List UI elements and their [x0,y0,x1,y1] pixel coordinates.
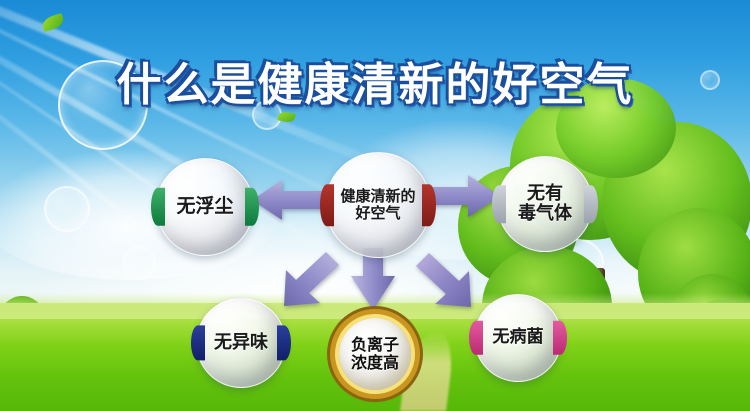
node-label-line2: 毒气体 [518,203,572,224]
bubble-icon [44,186,90,232]
node-label: 无有 毒气体 [518,184,572,224]
node-label-line1: 健康清新的 [340,187,415,205]
node-accent-left [492,185,506,223]
node-accent-left [191,325,205,360]
node-accent-right [245,188,259,226]
node-no-germs[interactable]: 无病菌 [474,294,562,382]
leaf-icon [41,13,66,32]
node-label: 健康清新的 好空气 [340,188,415,222]
node-no-odor[interactable]: 无异味 [196,298,286,388]
node-label-line1: 负离子 [351,335,399,354]
node-accent-left [320,184,334,226]
node-accent-left [469,321,483,355]
bubble-icon [122,246,156,280]
node-label-line1: 无有 [527,183,563,204]
node-label: 无浮尘 [176,196,233,217]
node-label: 负离子 浓度高 [351,336,399,372]
arrow-left-icon [252,178,324,222]
poster-canvas: 什么是健康清新的好空气 无浮尘 [0,0,750,411]
node-center-healthy-air[interactable]: 健康清新的 好空气 [325,152,431,258]
node-accent-right [584,185,598,223]
node-accent-right [553,321,567,355]
node-no-dust[interactable]: 无浮尘 [156,158,254,256]
node-accent-right [422,184,436,226]
node-accent-left [151,188,165,226]
node-accent-right [277,325,291,360]
node-no-toxic-gas[interactable]: 无有 毒气体 [497,156,593,252]
node-label: 无病菌 [493,328,544,347]
page-title: 什么是健康清新的好空气 [0,48,750,113]
node-high-anion[interactable]: 负离子 浓度高 [339,318,411,390]
node-label-line2: 浓度高 [351,353,399,372]
node-label-line2: 好空气 [355,204,400,222]
node-label: 无异味 [214,333,268,353]
